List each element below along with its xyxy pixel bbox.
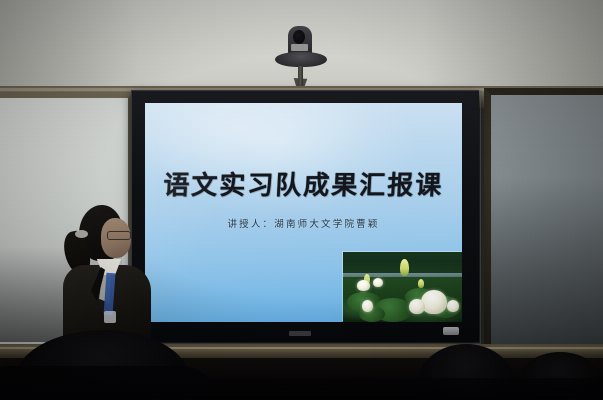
display-brand-mark	[289, 331, 311, 336]
lotus-bud	[400, 259, 409, 276]
lotus-bloom	[447, 300, 459, 312]
presenter-hair-tie	[75, 230, 88, 238]
presentation-slide: 语文实习队成果汇报课 讲授人：湖南师大文学院曹颖	[145, 103, 462, 322]
lotus-bloom	[373, 278, 383, 287]
lotus-pond-photo	[343, 252, 462, 322]
ceiling-camera	[272, 18, 330, 90]
camera-label-plate	[291, 44, 308, 51]
display-indicator	[443, 327, 459, 335]
lotus-bloom	[421, 290, 447, 314]
lotus-bud	[418, 279, 424, 288]
slide-subtitle: 讲授人：湖南师大文学院曹颖	[145, 216, 462, 230]
lotus-bloom	[362, 300, 373, 312]
slide-title: 语文实习队成果汇报课	[145, 165, 462, 202]
lotus-bloom	[357, 280, 370, 291]
foreground-floor-band	[0, 378, 603, 400]
camera-lens-icon	[293, 30, 305, 44]
lotus-bloom	[409, 299, 425, 314]
right-whiteboard	[484, 88, 603, 358]
camera-base	[275, 52, 327, 67]
presenter-badge	[104, 311, 116, 323]
photo-scene: 语文实习队成果汇报课 讲授人：湖南师大文学院曹颖	[0, 0, 603, 400]
glasses-icon	[107, 231, 131, 240]
